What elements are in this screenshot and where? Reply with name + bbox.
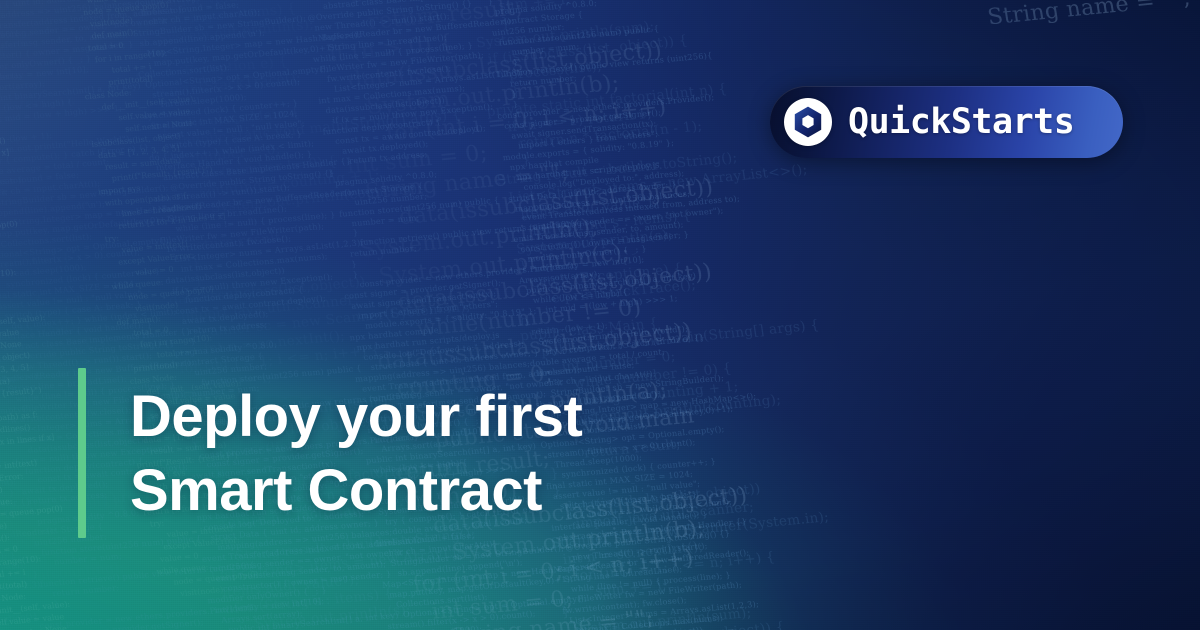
quickstarts-badge: QuickStarts xyxy=(770,86,1123,158)
headline-line-2: Smart Contract xyxy=(130,454,582,528)
chainlink-hexagon-icon xyxy=(784,98,832,146)
quickstarts-badge-label: QuickStarts xyxy=(848,105,1074,140)
headline-line-1: Deploy your first xyxy=(130,380,582,454)
page-title: Deploy your first Smart Contract xyxy=(130,368,582,538)
headline-block: Deploy your first Smart Contract xyxy=(78,368,582,538)
quickstarts-banner: function deploy(contract) { const tx = a… xyxy=(0,0,1200,630)
green-accent-bar xyxy=(78,368,86,538)
